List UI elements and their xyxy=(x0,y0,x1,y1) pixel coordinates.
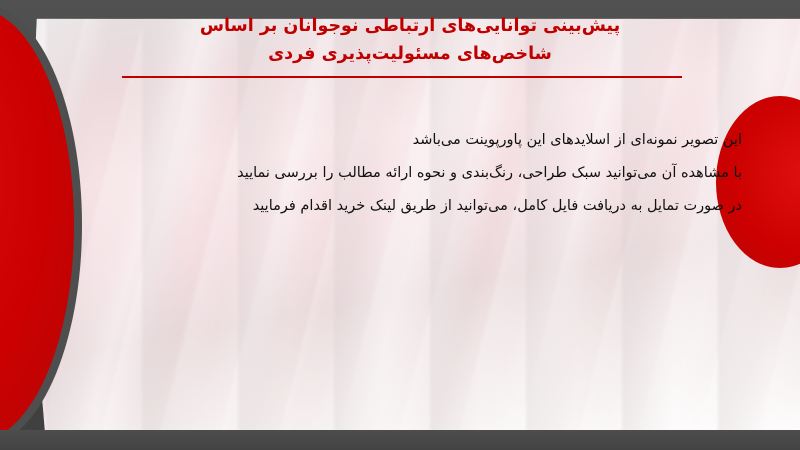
slide-bottom-band xyxy=(0,430,800,450)
body-line-2: با مشاهده آن می‌توانید سبک طراحی، رنگ‌بن… xyxy=(60,157,760,190)
title-line-1: پیش‌بینی توانایی‌های ارتباطی نوجوانان بر… xyxy=(74,12,746,40)
title-underline-rule xyxy=(122,76,682,78)
slide-body-text: این تصویر نمونه‌ای از اسلایدهای این پاور… xyxy=(60,124,760,223)
body-line-1: این تصویر نمونه‌ای از اسلایدهای این پاور… xyxy=(60,124,760,157)
slide-title: پیش‌بینی توانایی‌های ارتباطی نوجوانان بر… xyxy=(74,12,746,68)
title-line-2: شاخص‌های مسئولیت‌پذیری فردی xyxy=(74,40,746,68)
body-line-3: در صورت تمایل به دریافت فایل کامل، می‌تو… xyxy=(60,190,760,223)
presentation-slide: پیش‌بینی توانایی‌های ارتباطی نوجوانان بر… xyxy=(0,0,800,450)
